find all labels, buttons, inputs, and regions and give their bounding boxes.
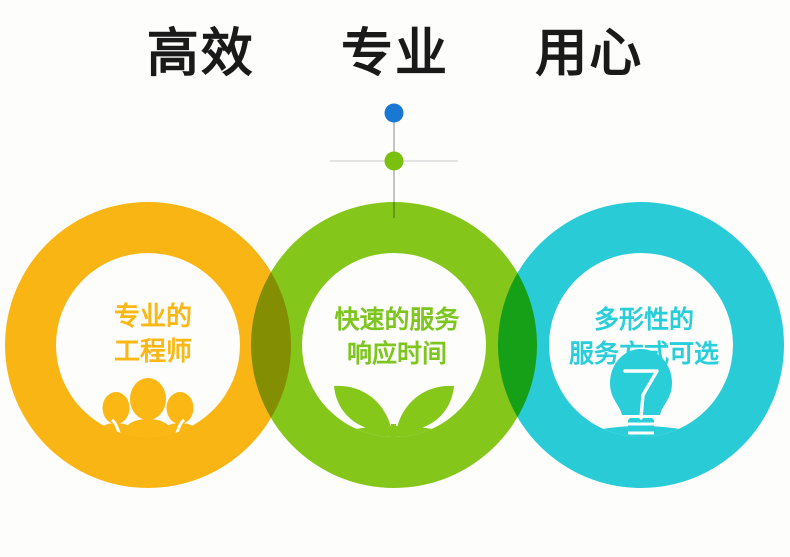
poster-canvas: 高效 专业 用心 (0, 0, 790, 557)
circle-label-service: 多形性的 服务方式可选 (534, 303, 754, 371)
circle-label-response-line1: 快速的服务 (297, 303, 497, 337)
venn-rings (0, 0, 790, 557)
ring-cyan (0, 0, 790, 557)
circle-label-engineers-line2: 工程师 (63, 335, 243, 370)
circle-label-engineers-line1: 专业的 (63, 300, 243, 335)
circle-label-service-line2: 服务方式可选 (534, 337, 754, 371)
circle-label-engineers: 专业的 工程师 (63, 300, 243, 371)
circle-label-response-line2: 响应时间 (297, 337, 497, 371)
circle-label-service-line1: 多形性的 (534, 303, 754, 337)
circle-label-response: 快速的服务 响应时间 (297, 303, 497, 371)
